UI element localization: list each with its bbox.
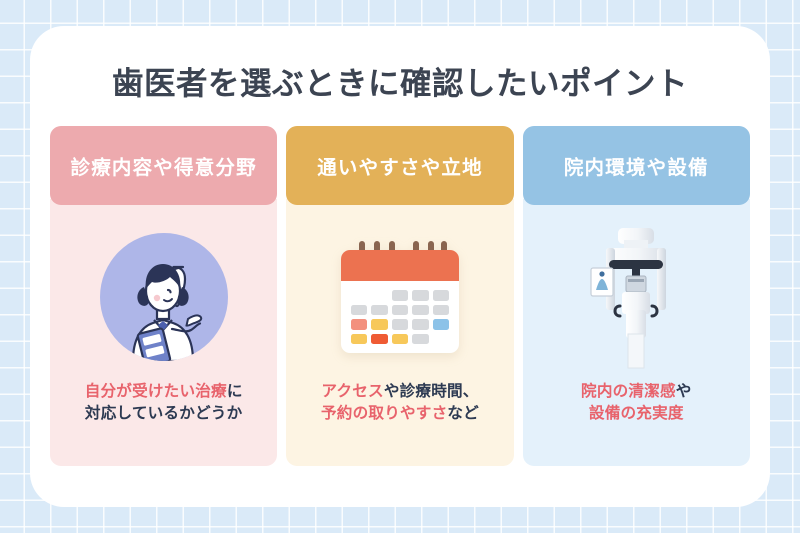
dentist-with-tooth-icon [100, 233, 228, 361]
caption-2-line-2-pink: 予約の取りやすさ [321, 405, 447, 422]
column-caption-1: 自分が受けたい治療に 対応しているかどうか [85, 381, 243, 425]
caption-1-line-1: 自分が受けたい治療に [85, 381, 243, 403]
page-title: 歯医者を選ぶときに確認したいポイント [112, 64, 688, 103]
calendar-day-cell [412, 334, 428, 345]
calendar-day-cell [412, 305, 428, 316]
illustration-1-wrap [50, 217, 277, 377]
caption-3-line-2-pink: 設備の充実度 [589, 405, 684, 422]
calendar-icon [341, 241, 459, 353]
dental-xray-machine-icon [576, 222, 696, 372]
calendar-day-cell [392, 290, 408, 301]
calendar-day-cell [371, 319, 387, 330]
illustration-3-wrap [523, 217, 750, 377]
caption-3-line-1-navy: や [676, 383, 692, 400]
caption-2-line-1: アクセスや診療時間、 [321, 381, 479, 403]
page-title-text: 歯医者を選ぶときに確認したいポイント [112, 65, 688, 101]
calendar-day-cell [412, 290, 428, 301]
caption-2-line-2-navy: など [447, 405, 479, 422]
caption-1-line-2-navy: 対応しているかどうか [85, 405, 242, 422]
calendar-day-cell [433, 319, 449, 330]
page-title-wrap: 歯医者を選ぶときに確認したいポイント [30, 64, 770, 103]
caption-2-line-2: 予約の取りやすさなど [321, 403, 479, 425]
calendar-day-grid [341, 281, 459, 344]
caption-1-line-2: 対応しているかどうか [85, 403, 243, 425]
calendar-day-cell [351, 334, 367, 345]
calendar-day-cell [351, 319, 367, 330]
calendar-day-cell [371, 290, 387, 301]
column-caption-3: 院内の清潔感や 設備の充実度 [581, 381, 692, 425]
calendar-day-cell [392, 305, 408, 316]
columns-container: 診療内容や得意分野 [50, 126, 750, 466]
caption-3-line-1-pink: 院内の清潔感 [581, 383, 676, 400]
column-header-1: 診療内容や得意分野 [50, 126, 277, 205]
calendar-day-cell [433, 334, 449, 345]
column-access-location: 通いやすさや立地 [286, 126, 513, 466]
caption-1-line-1-navy: に [227, 383, 243, 400]
column-treatment-content: 診療内容や得意分野 [50, 126, 277, 466]
caption-3-line-1: 院内の清潔感や [581, 381, 692, 403]
calendar-day-cell [433, 290, 449, 301]
calendar-day-cell [392, 319, 408, 330]
calendar-body [341, 250, 459, 353]
column-header-1-label: 診療内容や得意分野 [71, 151, 257, 180]
column-header-3: 院内環境や設備 [523, 126, 750, 205]
column-caption-2: アクセスや診療時間、 予約の取りやすさなど [321, 381, 479, 425]
calendar-day-cell [392, 334, 408, 345]
calendar-day-cell [412, 319, 428, 330]
column-clinic-environment: 院内環境や設備 [523, 126, 750, 466]
column-header-2: 通いやすさや立地 [286, 126, 513, 205]
calendar-day-cell [371, 305, 387, 316]
illustration-2-wrap [286, 217, 513, 377]
column-header-2-label: 通いやすさや立地 [317, 151, 483, 180]
calendar-header-bar [341, 250, 459, 281]
column-body-2: アクセスや診療時間、 予約の取りやすさなど [286, 199, 513, 466]
calendar-day-cell [351, 290, 367, 301]
calendar-day-cell [433, 305, 449, 316]
title-underline [108, 101, 692, 110]
column-header-3-label: 院内環境や設備 [564, 151, 709, 180]
calendar-day-cell [371, 334, 387, 345]
column-body-3: 院内の清潔感や 設備の充実度 [523, 199, 750, 466]
column-body-1: 自分が受けたい治療に 対応しているかどうか [50, 199, 277, 466]
caption-1-line-1-pink: 自分が受けたい治療 [85, 383, 227, 400]
caption-2-line-1-pink: アクセス [321, 383, 383, 400]
caption-2-line-1-navy: や診療時間、 [384, 383, 479, 400]
calendar-day-cell [351, 305, 367, 316]
caption-3-line-2: 設備の充実度 [581, 403, 692, 425]
main-card: 歯医者を選ぶときに確認したいポイント 診療内容や得意分野 [30, 26, 770, 507]
